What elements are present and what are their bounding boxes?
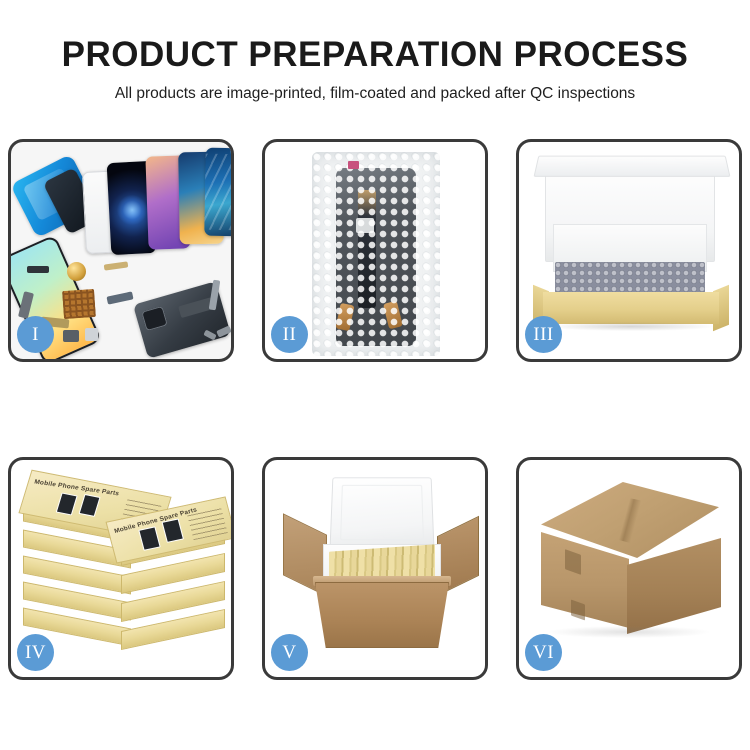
small-part: [27, 266, 49, 273]
page-header: PRODUCT PREPARATION PROCESS All products…: [0, 0, 750, 103]
bubble-wrap-bag: [312, 152, 440, 356]
process-step-card-5[interactable]: V: [262, 457, 488, 680]
connector-part: [106, 291, 133, 304]
process-step-card-1[interactable]: I: [8, 139, 234, 362]
box-artwork-phone: [138, 526, 160, 550]
step-badge-1: I: [17, 316, 54, 353]
small-part: [85, 328, 98, 341]
drop-shadow: [549, 626, 709, 638]
process-step-card-6[interactable]: VI: [516, 457, 742, 680]
phone-screen-wave-wallpaper: [204, 148, 231, 237]
bubble-texture-overlay: [312, 152, 440, 356]
step-badge-2: II: [271, 316, 308, 353]
page-title: PRODUCT PREPARATION PROCESS: [0, 36, 750, 75]
process-step-card-2[interactable]: II: [262, 139, 488, 362]
step-badge-5: V: [271, 634, 308, 671]
box-front-panel: [543, 292, 719, 324]
flex-cable-part: [104, 261, 129, 270]
page-subtitle: All products are image-printed, film-coa…: [0, 85, 750, 103]
process-step-card-3[interactable]: III: [516, 139, 742, 362]
speaker-module: [67, 262, 86, 281]
process-step-card-4[interactable]: Mobile Phone Spare Parts Mobile Phone Sp…: [8, 457, 234, 680]
box-artwork-phone: [56, 493, 78, 516]
box-spec-lines: [187, 506, 228, 540]
carton-front-wall: [315, 582, 449, 648]
drop-shadow: [549, 322, 713, 331]
step-badge-4: IV: [17, 634, 54, 671]
ic-chip-grid: [62, 289, 96, 319]
process-step-grid: I II III: [8, 139, 742, 680]
small-part: [63, 330, 79, 342]
foam-lid: [330, 477, 435, 548]
step-badge-3: III: [525, 316, 562, 353]
box-artwork-phone: [162, 518, 184, 542]
bag-seal-tape: [348, 161, 359, 169]
step-badge-6: VI: [525, 634, 562, 671]
box-artwork-phone: [79, 494, 101, 517]
